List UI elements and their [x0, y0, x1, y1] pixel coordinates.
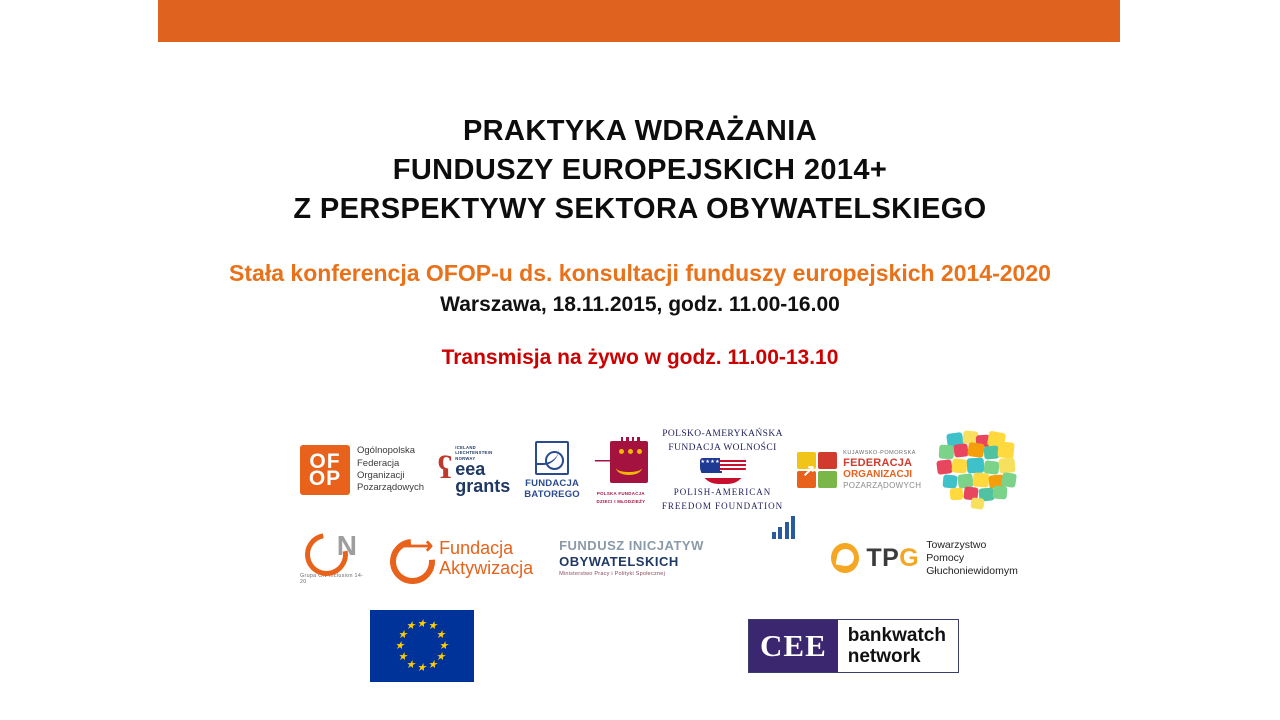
pafw-pl-line1: POLSKO-AMERYKAŃSKA [662, 429, 783, 441]
cee-line1: bankwatch [848, 625, 946, 646]
poland-map-icon [935, 429, 1025, 511]
eea-swirl-icon: ʔ [438, 452, 452, 482]
logo-kujawsko-pomorska-federacja: ↗ KUJAWSKO-POMORSKA FEDERACJA ORGANIZACJ… [797, 449, 921, 492]
presentation-slide: PRAKTYKA WDRAŻANIA FUNDUSZY EUROPEJSKICH… [0, 0, 1280, 720]
fio-line1-grey: FUNDUSZ INICJATYW [559, 538, 704, 553]
tpg-hand-icon [831, 543, 859, 573]
kpf-mark-icon: ↗ [797, 452, 837, 488]
cee-abbr: CEE [749, 620, 838, 672]
gon-letter: N [337, 531, 357, 561]
logo-row-3: ★★★★★★★★★★★★ CEE bankwatch network [370, 600, 960, 692]
batorego-line1: FUNDACJA [524, 478, 580, 489]
pafw-en-line1: POLISH-AMERICAN [674, 487, 772, 498]
ofop-text-line3: Organizacji [357, 470, 424, 482]
logo-cee-bankwatch: CEE bankwatch network [748, 619, 959, 673]
us-pl-flag-icon: ★★★★ [700, 458, 746, 484]
top-accent-bar [158, 0, 1120, 42]
eea-title-line2: grants [455, 478, 510, 495]
logo-ofop: OF OP Ogólnopolska Federacja Organizacji… [300, 445, 424, 495]
logo-poland-map-mosaic [935, 429, 1025, 511]
pfdim-arrow-icon: ⟶ [594, 451, 618, 471]
batorego-mark-icon [535, 441, 569, 475]
ofop-text: Ogólnopolska Federacja Organizacji Pozar… [357, 445, 424, 495]
live-stream-notice: Transmisja na żywo w godz. 11.00-13.10 [0, 346, 1280, 370]
ofop-text-line4: Pozarządowych [357, 482, 424, 494]
logo-fundacja-aktywizacja: ⟶ Fundacja Aktywizacja [390, 537, 533, 579]
aktywizacja-line1: Fundacja [439, 538, 533, 558]
pfdim-face-icon: ⟶ [594, 435, 648, 489]
logo-row-1: OF OP Ogólnopolska Federacja Organizacji… [300, 420, 1030, 520]
cee-line2: network [848, 646, 946, 667]
logo-fundusz-inicjatyw-obywatelskich: FUNDUSZ INICJATYW OBYWATELSKICH Minister… [559, 538, 805, 578]
title-line-1: PRAKTYKA WDRAŻANIA [0, 112, 1280, 151]
aktywizacja-mark-icon: ⟶ [390, 537, 432, 579]
slide-title: PRAKTYKA WDRAŻANIA FUNDUSZY EUROPEJSKICH… [0, 112, 1280, 229]
pafw-en-line2: FREEDOM FOUNDATION [662, 501, 783, 512]
logo-grupa-on-inclusion: N Grupa ON Inclusion 14-20 [300, 531, 364, 585]
logo-row-2: N Grupa ON Inclusion 14-20 ⟶ Fundacja Ak… [300, 522, 1020, 594]
pfdim-line1: POLSKA FUNDACJA [597, 491, 645, 497]
kpf-line2: ORGANIZACJI [843, 469, 921, 481]
ofop-mark-line2: OP [309, 470, 341, 487]
title-line-3: Z PERSPEKTYWY SEKTORA OBYWATELSKIEGO [0, 190, 1280, 229]
logo-polish-american-freedom-foundation: POLSKO-AMERYKAŃSKA FUNDACJA WOLNOŚCI ★★★… [662, 429, 783, 512]
ofop-mark-icon: OF OP [300, 445, 350, 495]
conference-name: Stała konferencja OFOP-u ds. konsultacji… [0, 258, 1280, 288]
aktywizacja-line2: Aktywizacja [439, 558, 533, 578]
ofop-text-line2: Federacja [357, 458, 424, 470]
eu-flag-icon: ★★★★★★★★★★★★ [370, 610, 474, 682]
title-line-2: FUNDUSZY EUROPEJSKICH 2014+ [0, 151, 1280, 190]
ofop-text-line1: Ogólnopolska [357, 445, 424, 457]
kpf-line3: POZARZĄDOWYCH [843, 481, 921, 491]
event-place-date: Warszawa, 18.11.2015, godz. 11.00-16.00 [0, 290, 1280, 320]
slide-subtitle: Stała konferencja OFOP-u ds. konsultacji… [0, 258, 1280, 320]
logo-eea-grants: ʔ ICELAND LIECHTENSTEIN NORWAY eea grant… [438, 445, 510, 495]
tpg-line1: Towarzystwo Pomocy [926, 539, 1020, 565]
fio-line1-dark: OBYWATELSKICH [559, 554, 679, 569]
fio-bars-icon [772, 516, 796, 539]
batorego-line2: BATOREGO [524, 489, 580, 500]
tpg-line2: Głuchoniewidomym [926, 565, 1020, 578]
logo-fundacja-batorego: FUNDACJA BATOREGO [524, 441, 580, 500]
fio-ministry-line: Ministerstwo Pracy i Polityki Społecznej [559, 570, 665, 578]
pafw-pl-line2: FUNDACJA WOLNOŚCI [668, 443, 776, 455]
logo-tpg: TPG Towarzystwo Pomocy Głuchoniewidomym [831, 539, 1020, 578]
kpf-region: KUJAWSKO-POMORSKA [843, 449, 921, 457]
tpg-abbr-part1: TP [866, 544, 899, 572]
gon-mark-icon: N [305, 531, 359, 571]
kpf-line1: FEDERACJA [843, 457, 921, 470]
tpg-abbr-part2: G [899, 544, 919, 572]
pfdim-line2: DZIECI I MŁODZIEŻY [596, 499, 645, 505]
logo-polska-fundacja-dzieci-i-mlodziezy: ⟶ POLSKA FUNDACJA DZIECI I MŁODZIEŻY [594, 435, 648, 504]
